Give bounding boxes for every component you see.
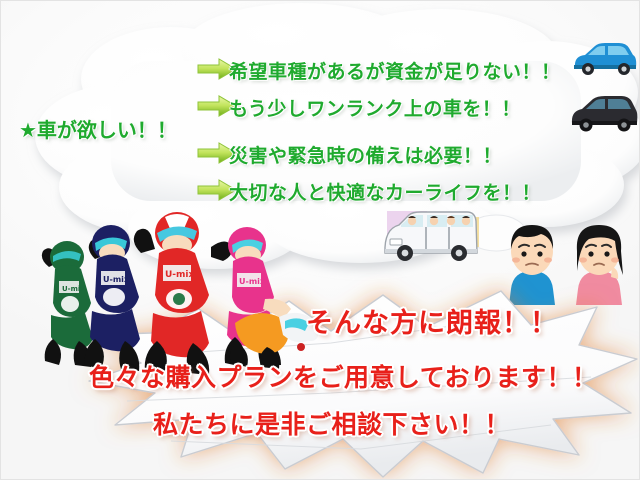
burst-line-2: 色々な購入プランをご用意しております！！: [89, 358, 598, 394]
u-mix-hero-team: U-mix U-mix: [29, 207, 329, 377]
svg-text:U-mix: U-mix: [103, 275, 130, 284]
burst-line-1: そんな方に朗報！！: [306, 301, 558, 340]
cloud-headline: ★車が欲しい！！: [19, 114, 177, 143]
blue-hatchback-car: [569, 39, 639, 79]
green-hero: U-mix: [42, 241, 93, 367]
burst-line-3: 私たちに是非ご相談下さい！！: [153, 405, 510, 441]
dark-suv-car: [569, 93, 639, 135]
red-hero: U-mix: [134, 212, 232, 375]
svg-text:U-mix: U-mix: [165, 270, 195, 280]
cloud-bullet-1: 希望車種があるが資金が足りない！！: [229, 57, 561, 84]
advertisement-poster: ★車が欲しい！！ 希望車種があるが資金が足りない！！ もう少しワンランク上の車を…: [0, 0, 640, 480]
navy-hero: U-mix: [85, 225, 140, 371]
cloud-bullet-2: もう少しワンランク上の車を！！: [229, 94, 521, 121]
cloud-bullet-4: 大切な人と快適なカーライフを！！: [229, 178, 541, 205]
cloud-bullet-3: 災害や緊急時の備えは必要！！: [229, 141, 502, 168]
family-van: [379, 203, 485, 275]
svg-text:U-mix: U-mix: [62, 285, 85, 293]
svg-text:U-mix: U-mix: [239, 277, 266, 286]
